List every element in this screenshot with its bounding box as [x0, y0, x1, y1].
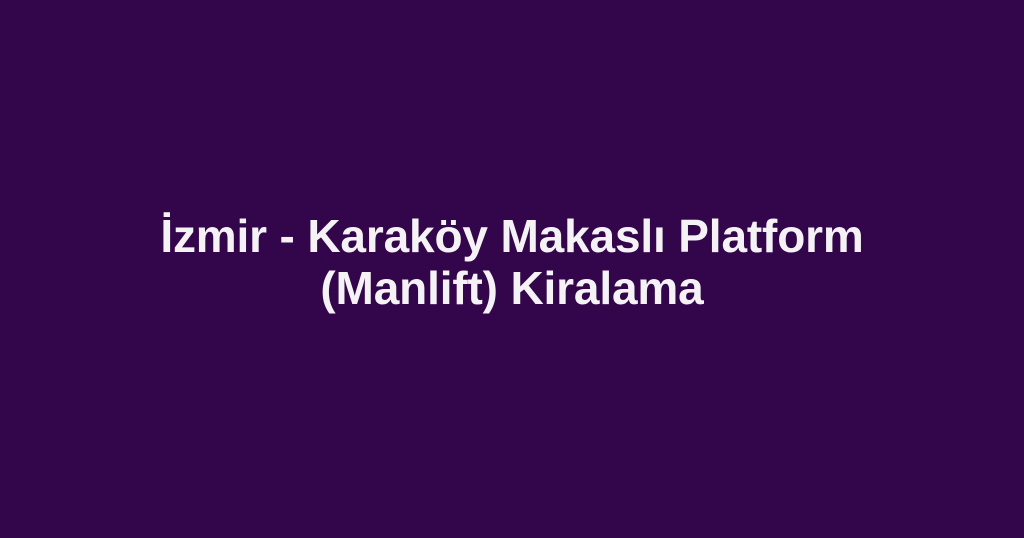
page-title-line-2: (Manlift) Kiralama [160, 262, 863, 314]
social-preview-card: İzmir - Karaköy Makaslı Platform (Manlif… [0, 0, 1024, 538]
hero-content: İzmir - Karaköy Makaslı Platform (Manlif… [0, 210, 1024, 314]
page-title-line-1: İzmir - Karaköy Makaslı Platform [160, 210, 863, 262]
page-title: İzmir - Karaköy Makaslı Platform (Manlif… [160, 210, 863, 314]
